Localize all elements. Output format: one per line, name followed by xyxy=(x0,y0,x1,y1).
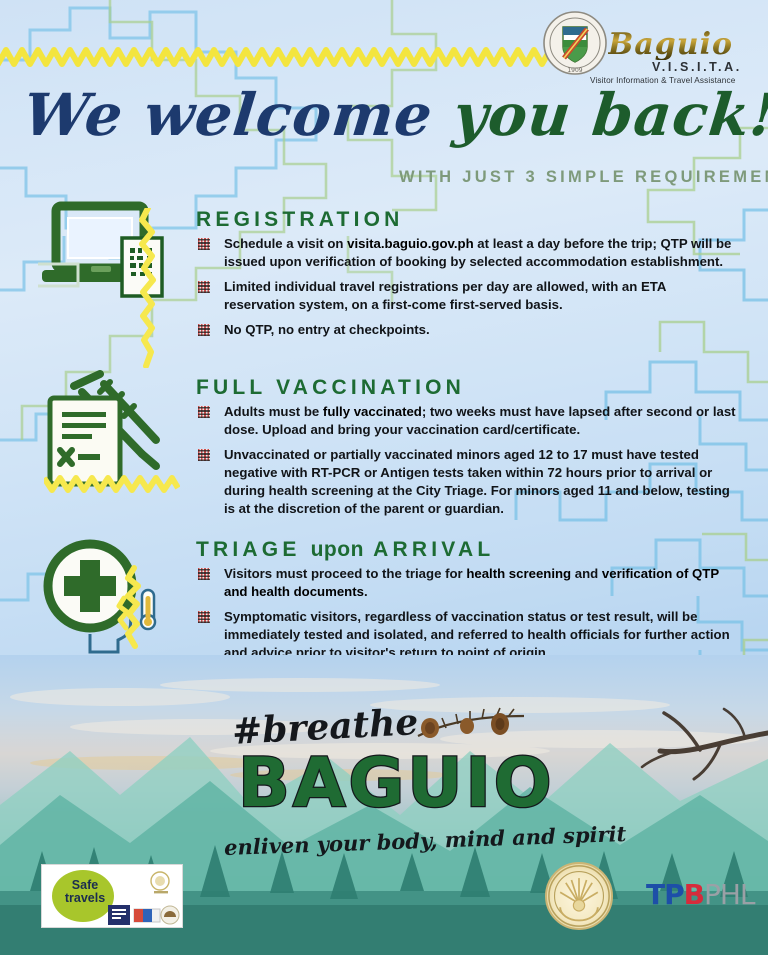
list-item: Visitors must proceed to the triage for … xyxy=(196,565,736,601)
list-item: Symptomatic visitors, regardless of vacc… xyxy=(196,608,736,662)
bullet-pre: Visitors must proceed to the triage for xyxy=(224,566,466,581)
weave-bullet-icon xyxy=(198,281,210,293)
visita-acronym: V.I.S.I.T.A. xyxy=(652,60,742,74)
bullet-list-registration: Schedule a visit on visita.baguio.gov.ph… xyxy=(196,235,736,339)
tpb-phl: PHL xyxy=(704,878,755,911)
bullet-bold: health screening xyxy=(466,566,571,581)
bullet-pre: Symptomatic visitors, regardless of vacc… xyxy=(224,609,730,660)
list-item: No QTP, no entry at checkpoints. xyxy=(196,321,736,339)
weave-bullet-icon xyxy=(198,611,210,623)
list-item: Schedule a visit on visita.baguio.gov.ph… xyxy=(196,235,736,271)
section-heading-triage: TRIAGE upon ARRIVAL xyxy=(196,538,736,562)
bullet-pre: No QTP, no entry at checkpoints. xyxy=(224,322,430,337)
bullet-bold: fully vaccinated xyxy=(323,404,422,419)
safe-travels-badge: Safe travels xyxy=(41,864,183,928)
bullet-post: and xyxy=(571,566,602,581)
bullet-pre: Schedule a visit on xyxy=(224,236,347,251)
baguio-wordmark: Baguio xyxy=(608,30,733,60)
heading-triage: TRIAGE xyxy=(196,538,301,561)
title-line-blue: We welcome xyxy=(20,81,436,149)
section-heading-full-vaccination: FULL VACCINATION xyxy=(196,376,736,400)
yellow-zigzag-registration xyxy=(136,208,160,368)
bullet-pre: Unvaccinated or partially vaccinated min… xyxy=(224,447,730,516)
yellow-zigzag-top xyxy=(0,44,610,70)
list-item: Unvaccinated or partially vaccinated min… xyxy=(196,446,736,518)
pine-cone-sprig-icon xyxy=(412,702,532,748)
bullet-list-triage: Visitors must proceed to the triage for … xyxy=(196,565,736,662)
weave-bullet-icon xyxy=(198,449,210,461)
bullet-bold: visita.baguio.gov.ph xyxy=(347,236,474,251)
yellow-zigzag-vaccination xyxy=(44,470,180,496)
heading-upon: upon xyxy=(311,538,364,561)
tpb-b: B xyxy=(684,878,704,911)
list-item: Limited individual travel registrations … xyxy=(196,278,736,314)
heading-arrival: ARRIVAL xyxy=(373,538,494,561)
page-subtitle: WITH JUST 3 SIMPLE REQUIREMENTS xyxy=(399,168,768,187)
section-heading-registration: REGISTRATION xyxy=(196,208,736,232)
section-registration: REGISTRATION Schedule a visit on visita.… xyxy=(196,208,736,346)
bullet-list-full-vaccination: Adults must be fully vaccinated; two wee… xyxy=(196,403,736,518)
department-of-tourism-seal-icon xyxy=(545,862,613,930)
weave-bullet-icon xyxy=(198,406,210,418)
bullet-pre: Adults must be xyxy=(224,404,323,419)
svg-text:1909: 1909 xyxy=(567,67,582,74)
page-title: We welcome you back! xyxy=(21,86,768,144)
title-line-green: you back! xyxy=(450,81,768,149)
bullet-pre: Limited individual travel registrations … xyxy=(224,279,666,312)
section-triage-upon-arrival: TRIAGE upon ARRIVAL Visitors must procee… xyxy=(196,538,736,669)
tpb-tp: TP xyxy=(646,878,684,911)
safe-travels-partner-logos xyxy=(50,869,182,927)
bullet-post-2: . xyxy=(364,584,368,599)
tpb-phl-logo: TPBPHL xyxy=(646,878,755,911)
weave-bullet-icon xyxy=(198,324,210,336)
city-of-baguio-seal-icon: 1909 xyxy=(542,10,608,76)
weave-bullet-icon xyxy=(198,568,210,580)
list-item: Adults must be fully vaccinated; two wee… xyxy=(196,403,736,439)
baguio-wordmark-large: BAGUIO xyxy=(238,744,555,823)
weave-bullet-icon xyxy=(198,238,210,250)
poster-root: 1909 Baguio V.I.S.I.T.A. Visitor Informa… xyxy=(0,0,768,955)
medical-cross-head-thermometer-icon xyxy=(38,534,178,654)
section-full-vaccination: FULL VACCINATION Adults must be fully va… xyxy=(196,376,736,525)
